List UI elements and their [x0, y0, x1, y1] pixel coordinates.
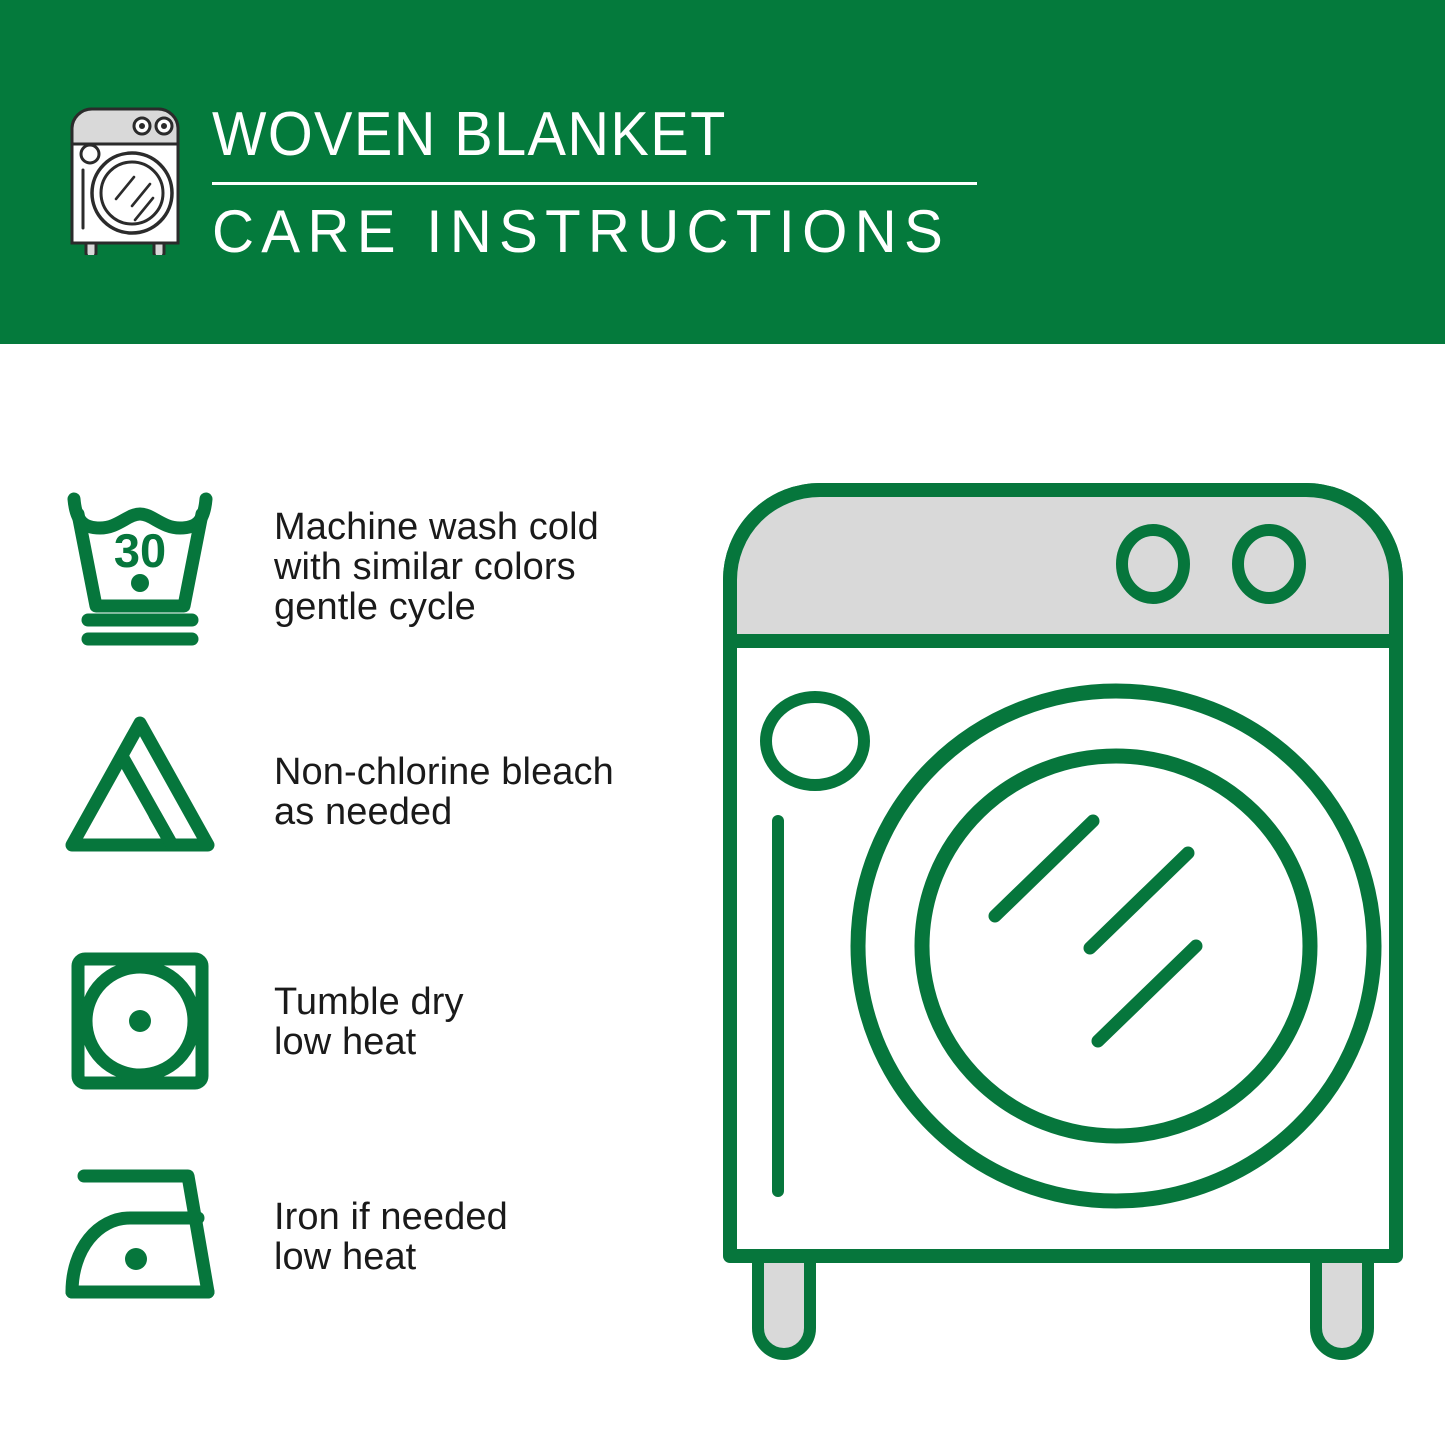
care-instructions-page: WOVEN BLANKET CARE INSTRUCTIONS 30	[0, 0, 1445, 1445]
machine-knob-1	[1122, 530, 1184, 598]
care-line: as needed	[274, 792, 614, 832]
care-line: Non-chlorine bleach	[274, 752, 614, 792]
page-subtitle: CARE INSTRUCTIONS	[212, 199, 959, 265]
machine-indicator-light	[766, 697, 864, 785]
care-item-machine-wash: 30 Machine wash cold with similar colors…	[0, 474, 640, 659]
care-text-bleach: Non-chlorine bleach as needed	[274, 752, 614, 832]
page-title: WOVEN BLANKET	[212, 100, 928, 170]
tumble-dry-low-heat-icon	[62, 939, 242, 1104]
care-line: Tumble dry	[274, 982, 464, 1022]
washing-machine-illustration	[716, 476, 1416, 1366]
header-banner: WOVEN BLANKET CARE INSTRUCTIONS	[0, 0, 1445, 344]
care-line: Iron if needed	[274, 1197, 508, 1237]
care-symbol-list: 30 Machine wash cold with similar colors…	[0, 344, 660, 1445]
care-item-iron: Iron if needed low heat	[0, 1144, 640, 1329]
care-item-bleach: Non-chlorine bleach as needed	[0, 699, 640, 884]
care-line: with similar colors	[274, 547, 599, 587]
washing-machine-icon	[66, 103, 184, 255]
care-text-tumble-dry: Tumble dry low heat	[274, 982, 464, 1062]
care-line: gentle cycle	[274, 587, 599, 627]
iron-low-heat-icon	[62, 1154, 242, 1319]
care-text-iron: Iron if needed low heat	[274, 1197, 508, 1277]
non-chlorine-bleach-triangle-icon	[62, 709, 242, 874]
care-line: low heat	[274, 1022, 464, 1062]
care-line: low heat	[274, 1237, 508, 1277]
header-title-block: WOVEN BLANKET CARE INSTRUCTIONS	[212, 100, 982, 265]
machine-knob-2	[1238, 530, 1300, 598]
care-item-tumble-dry: Tumble dry low heat	[0, 929, 640, 1114]
machine-door-inner	[922, 756, 1310, 1136]
care-line: Machine wash cold	[274, 507, 599, 547]
title-divider	[212, 182, 977, 185]
wash-temperature-label: 30	[114, 524, 166, 577]
care-text-machine-wash: Machine wash cold with similar colors ge…	[274, 507, 599, 627]
wash-tub-30-gentle-icon: 30	[62, 484, 242, 649]
